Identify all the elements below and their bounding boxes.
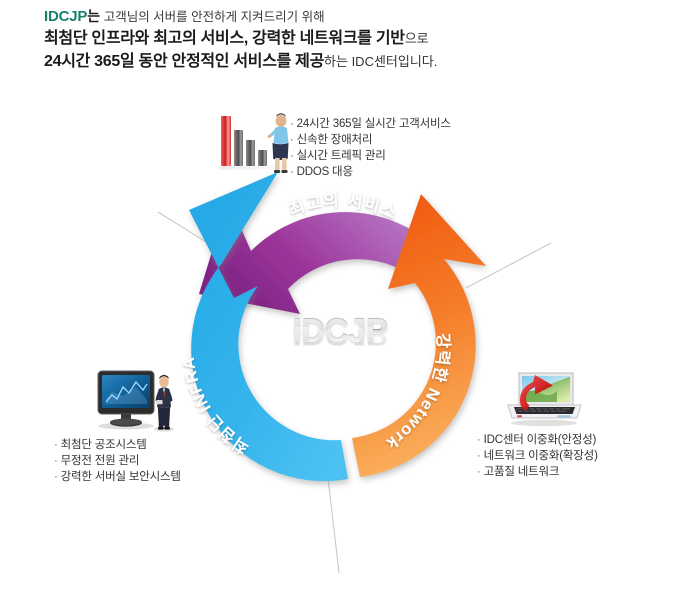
list-item: ·IDC센터 이중화(안정성) — [477, 432, 598, 448]
leader-line-infra — [327, 469, 339, 573]
cycle-wheel-svg: 최고의 서비스 강력한 Network 최첨단 INFRA — [0, 0, 680, 600]
bullet-marker: · — [477, 450, 481, 462]
list-item-label: 무정전 전원 관리 — [61, 455, 140, 467]
list-item-label: 신속한 장애처리 — [297, 134, 373, 146]
cycle-diagram: 최고의 서비스 강력한 Network 최첨단 INFRA IDCJP IDCJ… — [0, 0, 680, 600]
callout-network-list: ·IDC센터 이중화(안정성) ·네트워크 이중화(확장성) ·고품질 네트워크 — [477, 432, 598, 480]
bullet-marker: · — [290, 134, 294, 146]
list-item-label: DDOS 대응 — [297, 166, 353, 178]
list-item: ·고품질 네트워크 — [477, 464, 598, 480]
bullet-marker: · — [477, 434, 481, 446]
list-item-label: 최첨단 공조시스템 — [61, 439, 147, 451]
bullet-marker: · — [477, 466, 481, 478]
laptop-arrow-icon — [503, 368, 585, 428]
bar-chart-bar-2 — [234, 130, 243, 166]
list-item-label: 고품질 네트워크 — [484, 466, 560, 478]
bullet-marker: · — [54, 455, 58, 467]
bullet-marker: · — [54, 439, 58, 451]
laptop-graphic — [503, 368, 585, 428]
callout-infra-list: ·최첨단 공조시스템 ·무정전 전원 관리 ·강력한 서버실 보안시스템 — [54, 437, 181, 485]
businessman-figure — [151, 374, 177, 432]
list-item-label: 강력한 서버실 보안시스템 — [61, 471, 181, 483]
list-item: ·무정전 전원 관리 — [54, 453, 181, 469]
bullet-marker: · — [54, 471, 58, 483]
bullet-marker: · — [290, 166, 294, 178]
list-item: ·24시간 365일 실시간 고객서비스 — [290, 116, 451, 132]
list-item-label: 24시간 365일 실시간 고객서비스 — [297, 118, 451, 130]
bar-chart-bar-1 — [221, 116, 231, 166]
bullet-marker: · — [290, 150, 294, 162]
list-item: ·실시간 트레픽 관리 — [290, 148, 451, 164]
leader-line-network — [466, 243, 551, 288]
list-item: ·최첨단 공조시스템 — [54, 437, 181, 453]
callout-service-list: ·24시간 365일 실시간 고객서비스 ·신속한 장애처리 ·실시간 트레픽 … — [290, 116, 451, 180]
list-item: ·강력한 서버실 보안시스템 — [54, 469, 181, 485]
list-item-label: 실시간 트레픽 관리 — [297, 150, 386, 162]
list-item: ·DDOS 대응 — [290, 164, 451, 180]
bullet-marker: · — [290, 118, 294, 130]
bar-chart-bar-3 — [246, 140, 255, 166]
list-item: ·신속한 장애처리 — [290, 132, 451, 148]
bar-chart-presenter-icon — [219, 112, 291, 174]
list-item-label: 네트워크 이중화(확장성) — [484, 450, 598, 462]
list-item: ·네트워크 이중화(확장성) — [477, 448, 598, 464]
monitor-businessman-icon — [93, 368, 177, 430]
list-item-label: IDC센터 이중화(안정성) — [484, 434, 597, 446]
